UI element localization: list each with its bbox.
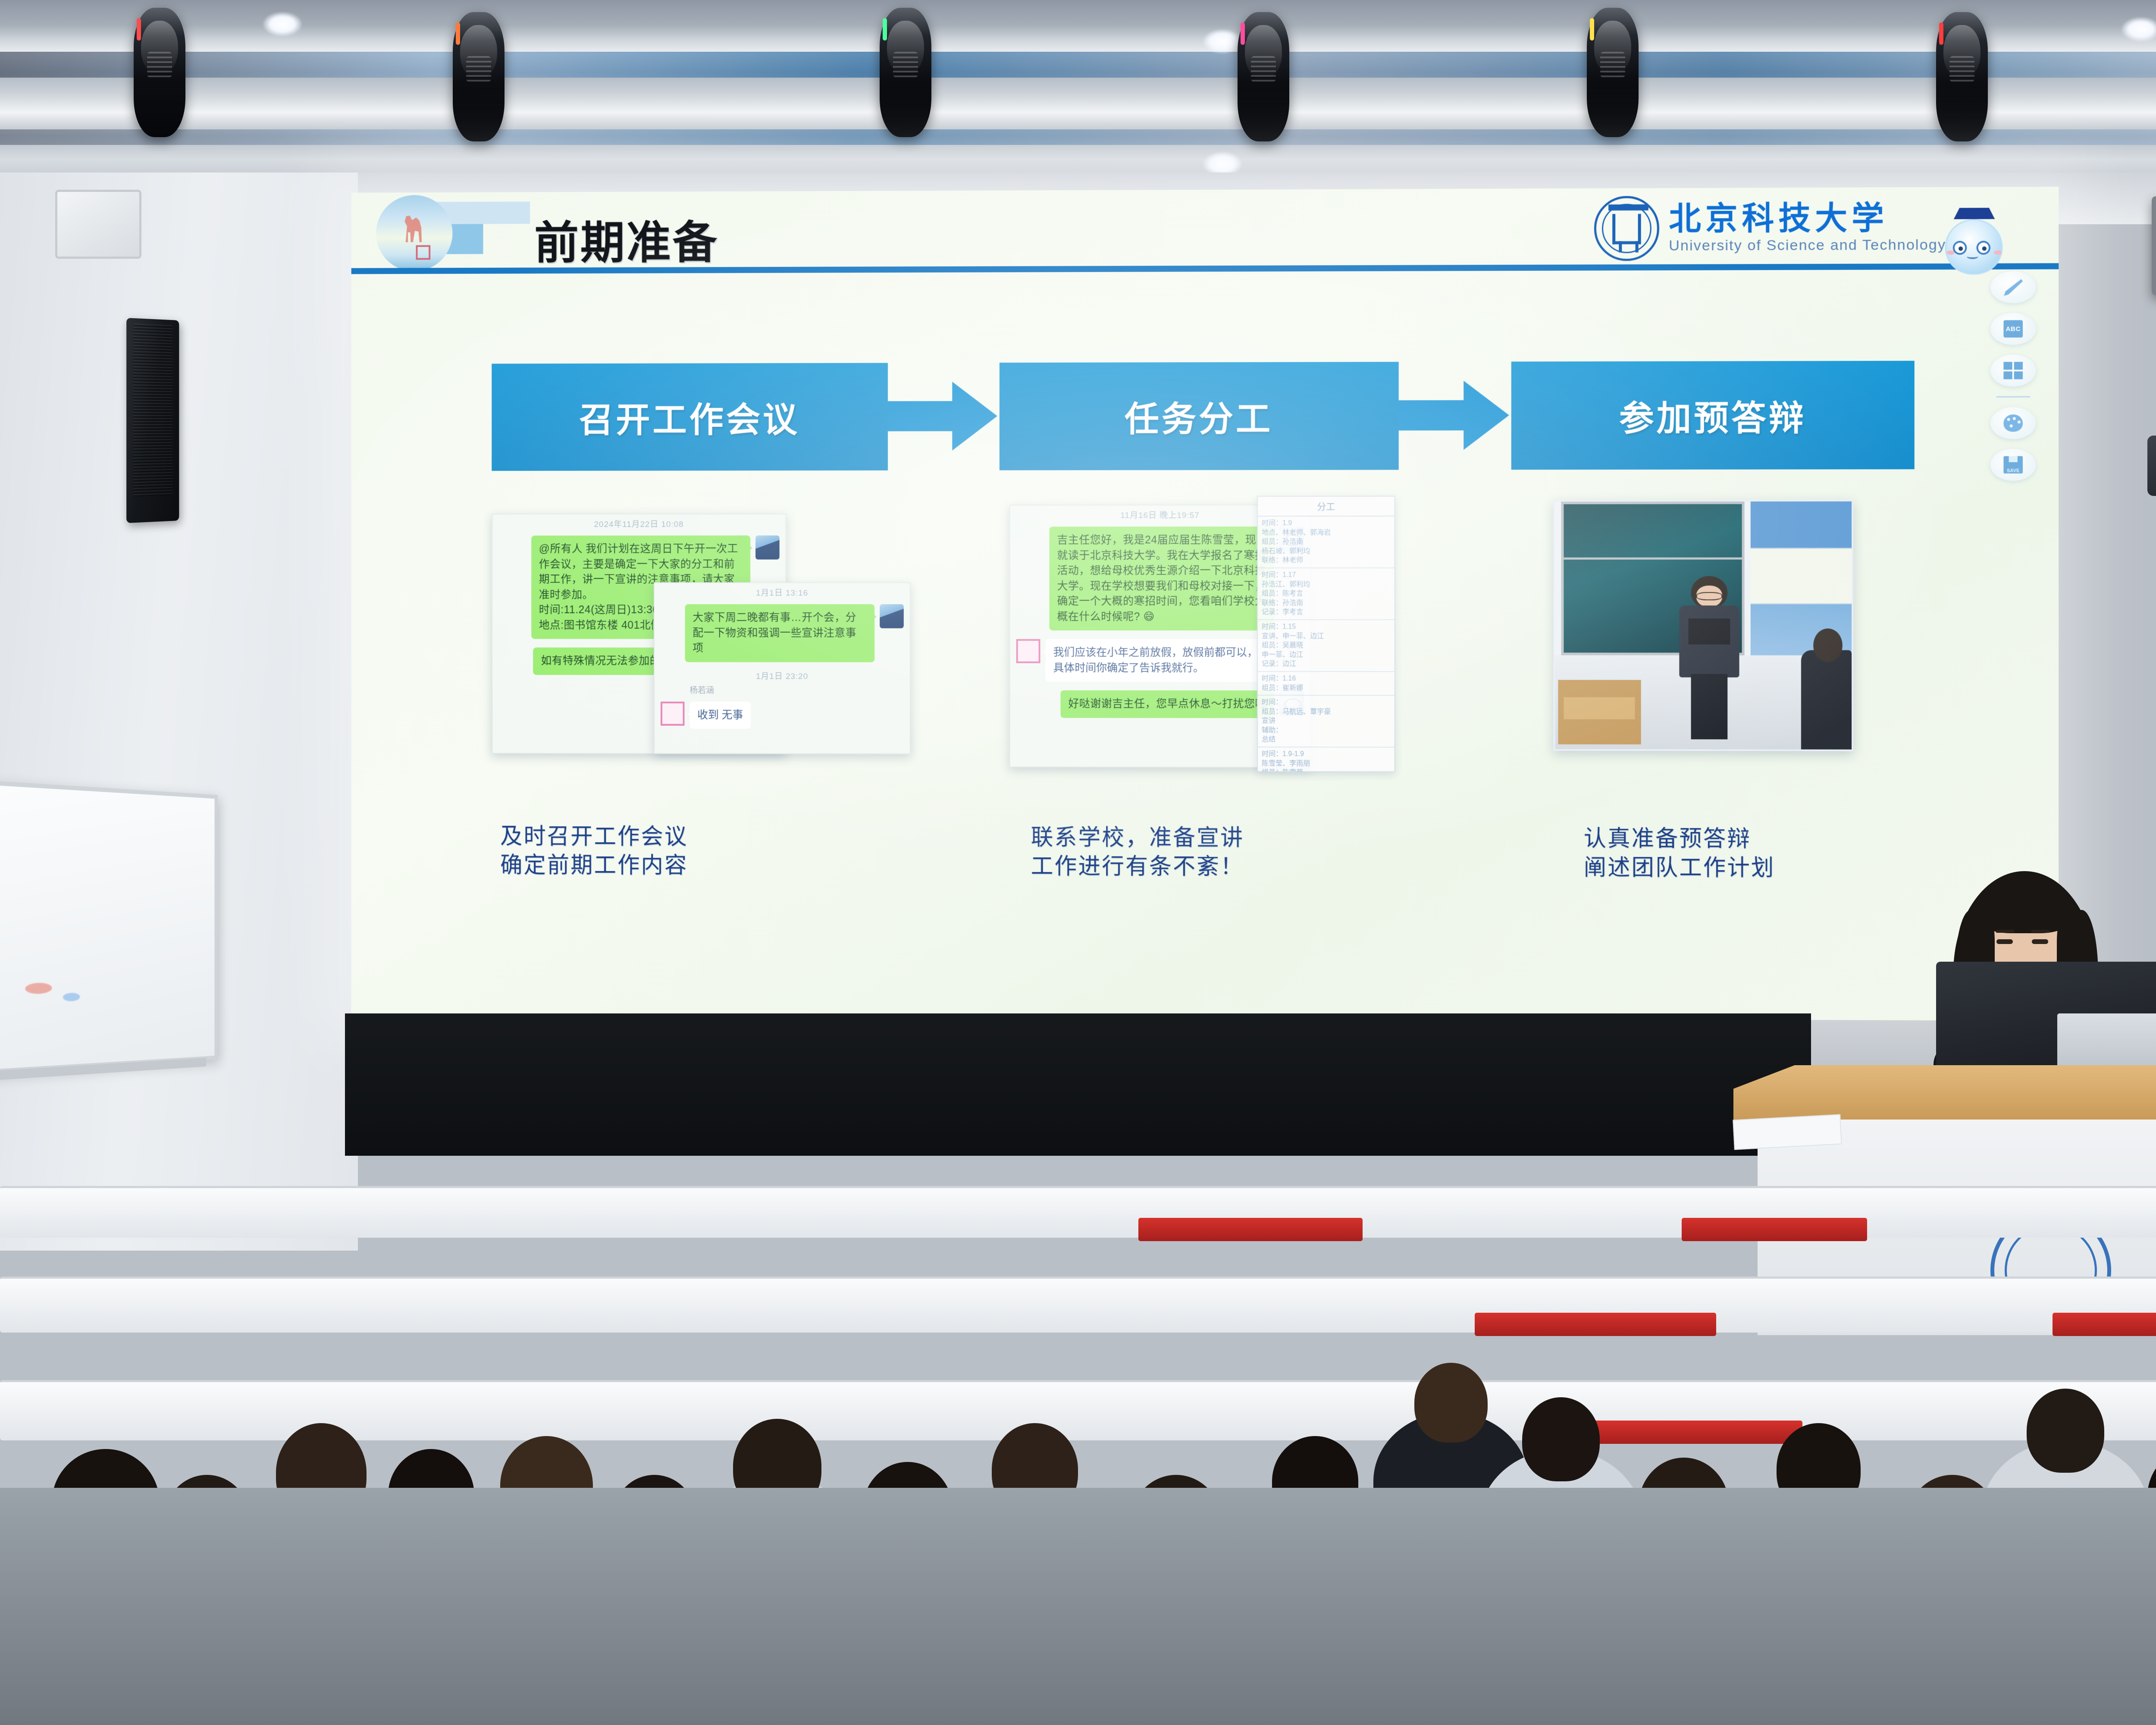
media-column-1: 2024年11月22日 10:08 @所有人 我们计划在这周日下午开一次工作会议… bbox=[492, 496, 928, 806]
media-column-2: 11月16日 晚上19:57 吉主任您好，我是24届应届生陈雪莹，现就读于北京科… bbox=[1009, 496, 1449, 807]
university-brand: 北京科技大学 University of Science and Technol… bbox=[1594, 195, 2002, 261]
camel-icon bbox=[402, 209, 425, 242]
whiteboard bbox=[0, 781, 218, 1074]
stage-light-led bbox=[1939, 22, 1943, 45]
seal-stamp-icon bbox=[416, 245, 430, 260]
avatar bbox=[661, 701, 684, 725]
photo-presenter bbox=[1677, 576, 1742, 739]
seat-back bbox=[1138, 1218, 1363, 1241]
table-title: 分工 bbox=[1258, 497, 1395, 517]
caption-1: 及时召开工作会议 确定前期工作内容 bbox=[500, 822, 688, 880]
chat-sender-name: 杨若涵 bbox=[689, 684, 909, 696]
brand-name-en: University of Science and Technology Bei… bbox=[1669, 236, 2002, 254]
assignment-table-window: 分工 时间：1.9 地点、林老师、郭海岩 组员：孙浩南 杨石坡、郭利均 联络：林… bbox=[1257, 496, 1395, 772]
palette-tool-button[interactable] bbox=[1990, 407, 2036, 439]
ceiling-bulb bbox=[2122, 17, 2156, 41]
podium-surface bbox=[1733, 1065, 2156, 1121]
audience-member-head bbox=[1414, 1363, 1488, 1443]
media-column-3 bbox=[1536, 495, 1927, 777]
stage-light-led bbox=[1241, 22, 1245, 45]
chat-date: 1月1日 23:20 bbox=[655, 666, 910, 683]
stage-light-led bbox=[456, 22, 460, 45]
ptz-camera bbox=[2147, 436, 2156, 496]
ceiling-bulb bbox=[1203, 29, 1242, 53]
lecture-hall-room: 17:06 前期准备 bbox=[0, 0, 2156, 1725]
windows-desktop-button[interactable] bbox=[1990, 354, 2036, 387]
photo-desk bbox=[1564, 697, 1635, 720]
palette-icon bbox=[2003, 414, 2023, 432]
seat-back bbox=[2053, 1313, 2156, 1336]
seat-back bbox=[1578, 1421, 1802, 1444]
arrow-right-icon bbox=[1399, 381, 1511, 451]
audience-member-head bbox=[2027, 1389, 2104, 1473]
table-body: 时间：1.9 地点、林老师、郭海岩 组员：孙浩南 杨石坡、郭利均 联络：林老师时… bbox=[1258, 517, 1395, 772]
wall-panel-left bbox=[55, 190, 141, 259]
avatar bbox=[1016, 639, 1040, 663]
university-seal-icon bbox=[1594, 196, 1659, 261]
avatar bbox=[880, 604, 904, 628]
annotation-toolbar[interactable]: ABC SAVE bbox=[1989, 265, 2038, 487]
stage-light bbox=[1936, 12, 1988, 141]
table-row: 时间：1.9-1.9 陈雪莹、李雨朋 组员：陈雪莹 联络：李雨朋 记录：陈雪莹 bbox=[1258, 747, 1395, 772]
whiteboard-marking bbox=[63, 993, 80, 1002]
chat-date: 2024年11月22日 10:08 bbox=[492, 514, 785, 531]
process-flow: 召开工作会议 任务分工 参加预答辩 bbox=[492, 361, 1915, 471]
audience-member-head bbox=[1522, 1397, 1600, 1481]
brand-name-cn: 北京科技大学 bbox=[1669, 201, 2002, 235]
table-row: 时间：1.15 宣讲、申一菲、边江 组员：吴晨晓 申一菲、边江 记录：边江 bbox=[1258, 620, 1395, 672]
table-row: 时间：1.9 地点、林老师、郭海岩 组员：孙浩南 杨石坡、郭利均 联络：林老师 bbox=[1258, 517, 1395, 568]
defense-photo bbox=[1553, 500, 1853, 751]
ding-vessel-icon bbox=[1612, 214, 1641, 244]
chat-bubble-outgoing: 大家下周二晚都有事…开个会，分配一下物资和强调一些宣讲注意事项 bbox=[685, 604, 874, 662]
stage-light-led bbox=[883, 18, 887, 41]
header-decor-oval bbox=[376, 195, 453, 271]
blackboard-icon: ABC bbox=[2003, 320, 2023, 337]
digital-clock: 17:06 bbox=[2152, 196, 2156, 295]
stage-light bbox=[1238, 12, 1289, 141]
slide-header: 前期准备 北京科技大学 University of Science and Te… bbox=[351, 187, 2059, 274]
chat-row: 大家下周二晚都有事…开个会，分配一下物资和强调一些宣讲注意事项 bbox=[655, 600, 910, 666]
bench-row bbox=[0, 1276, 2156, 1333]
stage-light bbox=[134, 8, 185, 137]
table-row: 时间：1.17 孙浩江、郭利均 组员：陈考言 联络：孙浩南 记录：李考言 bbox=[1258, 568, 1395, 620]
chat-bubble-outgoing: 吉主任您好，我是24届应届生陈雪莹，现就读于北京科技大学。我在大学报名了寒招活动… bbox=[1049, 527, 1274, 630]
ceiling-light-strip-secondary bbox=[0, 129, 2156, 145]
blackboard-tool-button[interactable]: ABC bbox=[1990, 313, 2036, 345]
wall-speaker-left bbox=[126, 318, 179, 523]
avatar bbox=[755, 536, 780, 560]
floor bbox=[0, 1488, 2156, 1725]
chat-window-b: 1月1日 13:16 大家下周二晚都有事…开个会，分配一下物资和强调一些宣讲注意… bbox=[654, 582, 911, 754]
slide-canvas: 前期准备 北京科技大学 University of Science and Te… bbox=[351, 187, 2059, 1021]
stage-light bbox=[880, 8, 931, 137]
pen-icon bbox=[2003, 279, 2023, 296]
seat-back bbox=[1475, 1313, 1716, 1336]
chat-date: 1月1日 13:16 bbox=[655, 583, 910, 600]
process-step-3: 参加预答辩 bbox=[1511, 361, 1915, 470]
ceiling-bulb bbox=[263, 12, 302, 36]
chat-bubble-incoming: 收到 无事 bbox=[689, 702, 751, 729]
podium-monitor bbox=[1936, 962, 2156, 1074]
chat-bubble-outgoing: 好哒谢谢吉主任，您早点休息～打扰您啦 bbox=[1060, 690, 1274, 718]
arrow-right-icon bbox=[888, 382, 1000, 451]
process-step-1: 召开工作会议 bbox=[492, 363, 887, 470]
page-title: 前期准备 bbox=[534, 206, 719, 272]
pen-tool-button[interactable] bbox=[1990, 271, 2036, 304]
toolbar-divider bbox=[1996, 396, 2030, 398]
seat-back bbox=[1682, 1218, 1867, 1241]
ceiling bbox=[0, 0, 2156, 181]
stage-light-led bbox=[137, 18, 141, 41]
table-row: 时间： 组员：马航远、覃宇豪 宣讲 辅助： 总结 bbox=[1258, 696, 1395, 747]
stage-light bbox=[453, 12, 505, 141]
table-row: 时间：1.16 组员：崔新娜 bbox=[1258, 672, 1395, 696]
caption-3: 认真准备预答辩 阐述团队工作计划 bbox=[1584, 825, 1775, 883]
caption-2: 联系学校，准备宣讲 工作进行有条不紊！ bbox=[1031, 823, 1244, 881]
projection-screen: 前期准备 北京科技大学 University of Science and Te… bbox=[351, 187, 2059, 1021]
stage-light-led bbox=[1590, 18, 1594, 41]
chat-bubble-incoming: 我们应该在小年之前放假，放假前都可以，具体时间你确定了告诉我就行。 bbox=[1046, 639, 1270, 682]
chat-row: 收到 无事 bbox=[655, 697, 910, 733]
brand-text: 北京科技大学 University of Science and Technol… bbox=[1669, 201, 2002, 254]
photo-judge bbox=[1801, 650, 1852, 750]
process-step-2: 任务分工 bbox=[1000, 362, 1399, 470]
whiteboard-marking bbox=[25, 982, 52, 994]
save-button[interactable]: SAVE bbox=[1990, 448, 2036, 481]
windows-icon bbox=[2003, 362, 2023, 379]
save-icon: SAVE bbox=[2003, 456, 2023, 474]
stage-light bbox=[1587, 8, 1639, 137]
ceiling-light-strip bbox=[0, 52, 2156, 78]
